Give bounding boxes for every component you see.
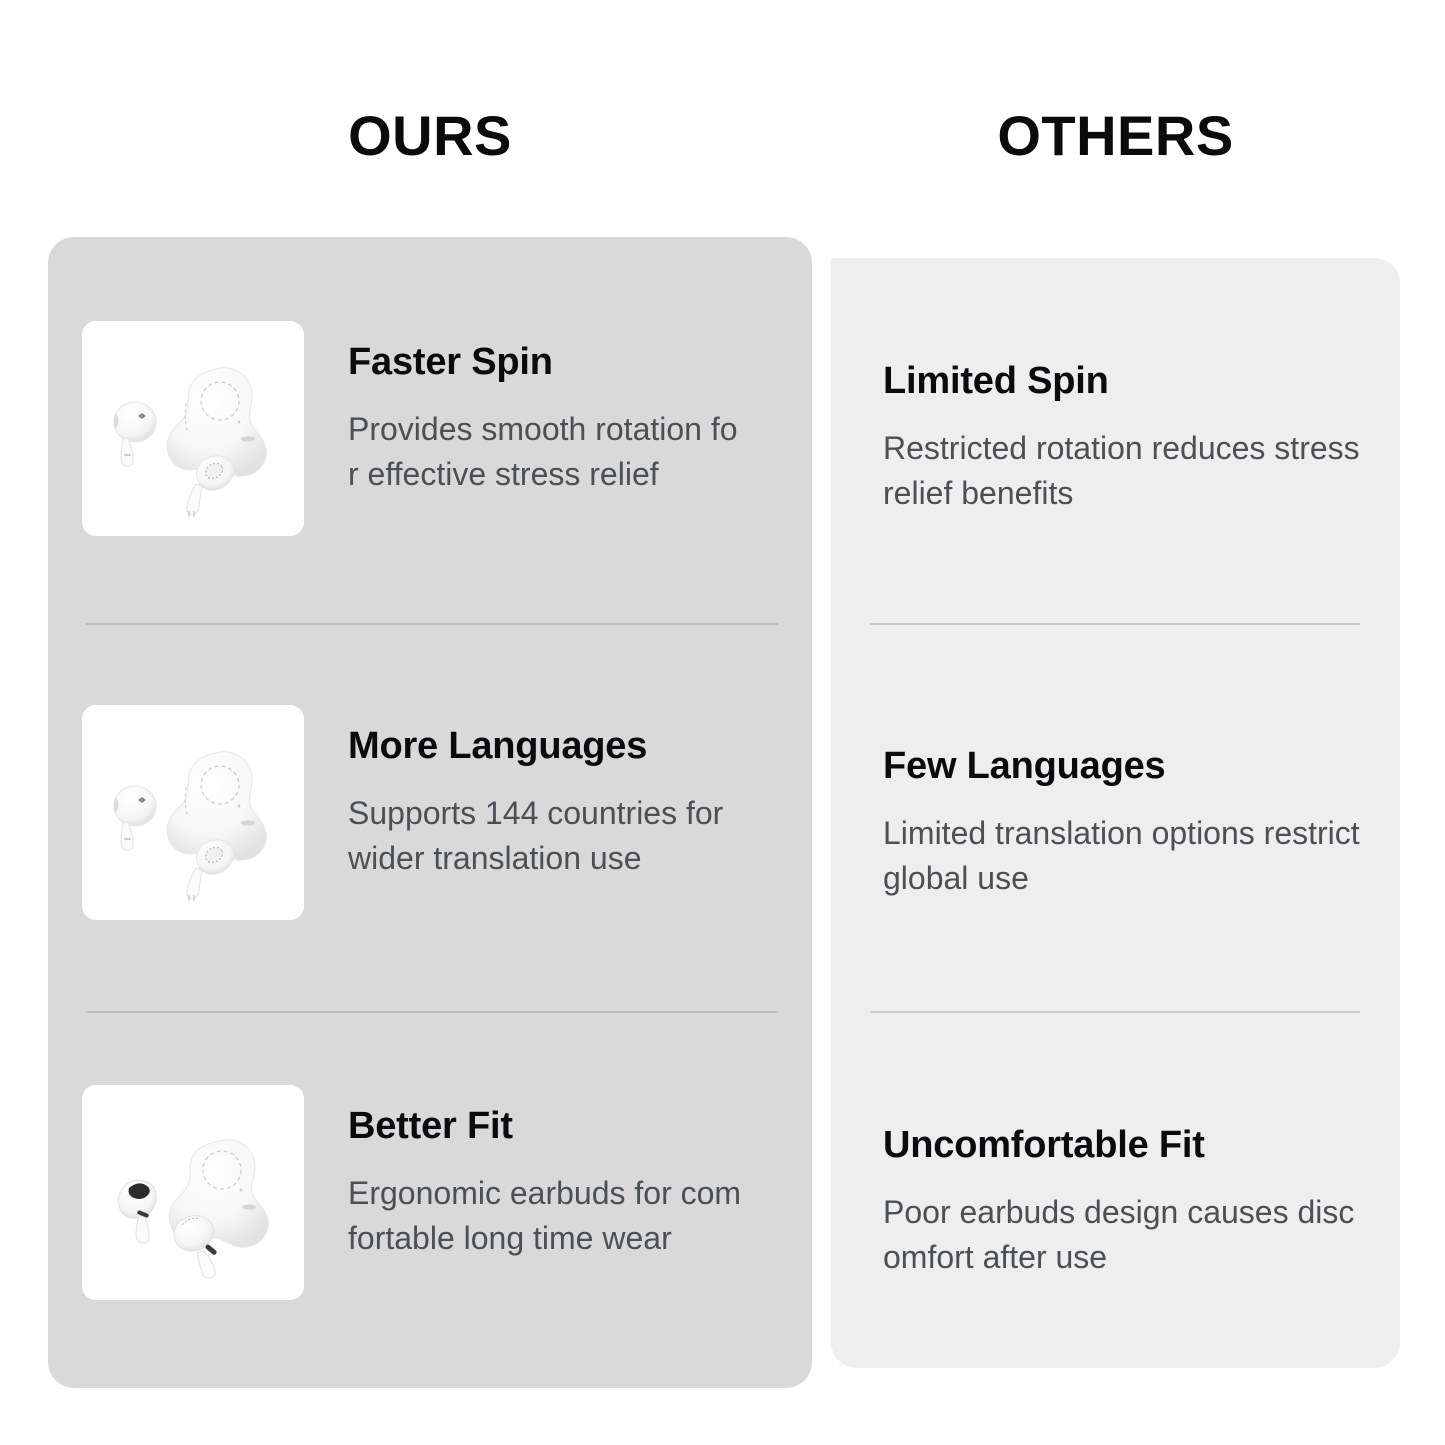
product-thumbnail-2 (82, 705, 304, 920)
product-thumbnail-3 (82, 1085, 304, 1300)
others-row: Few Languages Limited translation option… (883, 745, 1373, 902)
column-header-ours: OURS (48, 108, 812, 164)
feature-title: Limited Spin (883, 360, 1373, 404)
feature-title: Few Languages (883, 745, 1373, 789)
earbuds-with-spinner-case-icon (82, 321, 304, 536)
earbuds-with-spinner-case-icon (82, 705, 304, 920)
product-thumbnail-1 (82, 321, 304, 536)
feature-title: Faster Spin (348, 341, 778, 385)
ours-panel: Faster Spin Provides smooth rotation for… (48, 237, 812, 1388)
comparison-page: OURS OTHERS (0, 0, 1445, 1445)
ours-row-text: Faster Spin Provides smooth rotation for… (304, 321, 778, 498)
others-panel: Limited Spin Restricted rotation reduces… (831, 258, 1400, 1368)
ours-row: Better Fit Ergonomic earbuds for comfort… (82, 1085, 778, 1300)
others-row: Uncomfortable Fit Poor earbuds design ca… (883, 1124, 1373, 1281)
ours-row-text: Better Fit Ergonomic earbuds for comfort… (304, 1085, 778, 1262)
ours-row: Faster Spin Provides smooth rotation for… (82, 321, 778, 536)
others-divider-2 (870, 1011, 1360, 1013)
others-row: Limited Spin Restricted rotation reduces… (883, 360, 1373, 517)
feature-title: Better Fit (348, 1105, 778, 1149)
earbuds-angled-view-icon (82, 1085, 304, 1300)
feature-title: Uncomfortable Fit (883, 1124, 1373, 1168)
ours-row: More Languages Supports 144 countries fo… (82, 705, 778, 920)
feature-description: Provides smooth rotation for effective s… (348, 407, 748, 498)
feature-description: Poor earbuds design causes discomfort af… (883, 1190, 1361, 1281)
feature-description: Limited translation options restrict glo… (883, 811, 1361, 902)
feature-description: Supports 144 countries for wider transla… (348, 791, 748, 882)
column-header-others: OTHERS (831, 108, 1400, 164)
others-divider-1 (870, 623, 1360, 625)
ours-divider-2 (86, 1011, 778, 1013)
feature-title: More Languages (348, 725, 778, 769)
feature-description: Ergonomic earbuds for comfortable long t… (348, 1171, 748, 1262)
feature-description: Restricted rotation reduces stress relie… (883, 426, 1361, 517)
ours-divider-1 (86, 623, 778, 625)
ours-row-text: More Languages Supports 144 countries fo… (304, 705, 778, 882)
